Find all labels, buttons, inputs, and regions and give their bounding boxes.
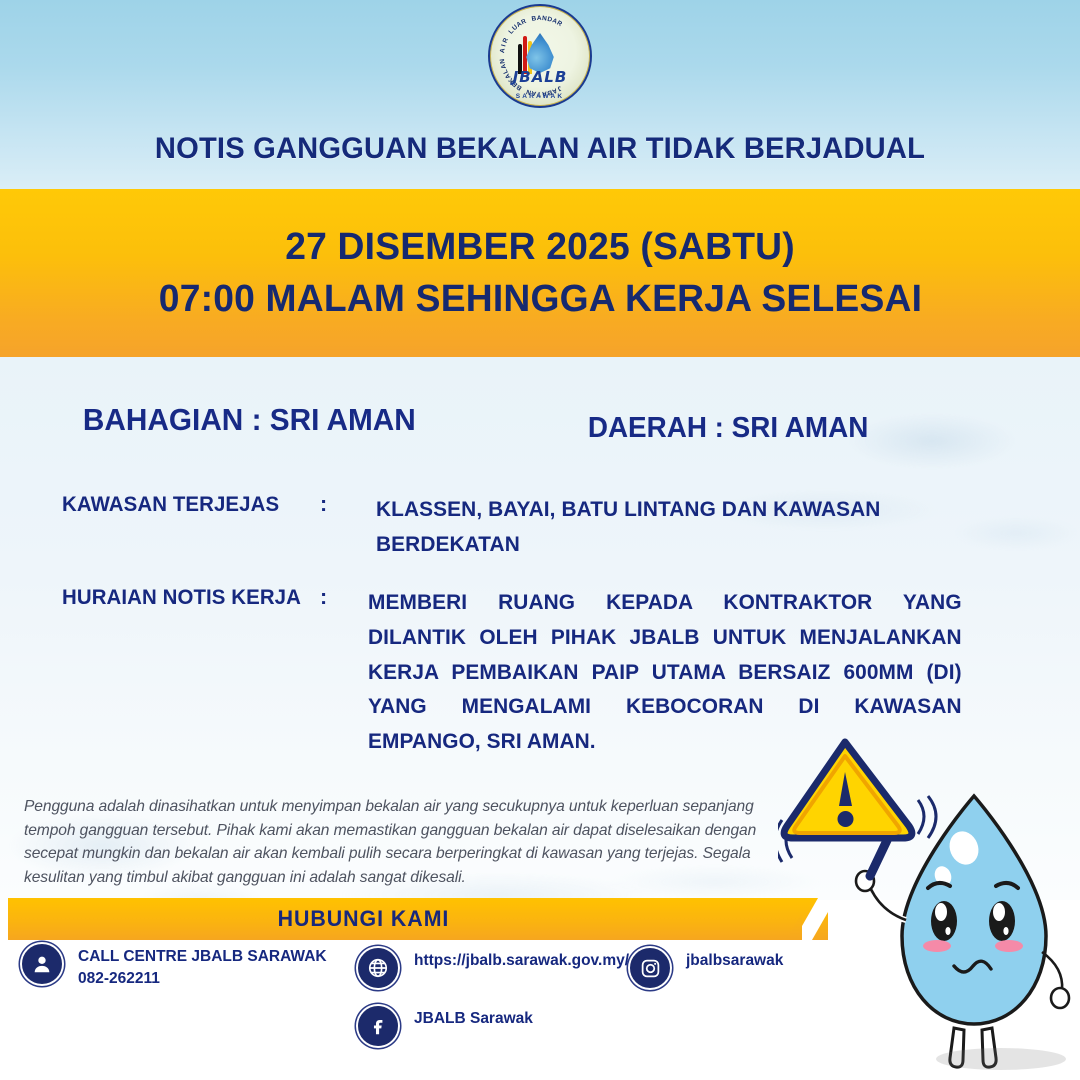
person-icon: [22, 944, 62, 984]
division-label: BAHAGIAN : SRI AMAN: [83, 402, 416, 438]
notice-poster: JABATAN BEKALAN AIR LUAR BANDAR JBALB SA…: [0, 0, 1080, 1080]
page-title: NOTIS GANGGUAN BEKALAN AIR TIDAK BERJADU…: [16, 132, 1064, 166]
contact-website[interactable]: https://jbalb.sarawak.gov.my/: [358, 948, 629, 988]
contacts-section: CALL CENTRE JBALB SARAWAK 082-262211 htt…: [0, 944, 1080, 1054]
contact-bar-wrapper: HUBUNGI KAMI: [0, 898, 1080, 940]
jbalb-logo: JABATAN BEKALAN AIR LUAR BANDAR JBALB SA…: [488, 4, 592, 108]
contact-bar-title: HUBUNGI KAMI: [277, 906, 449, 932]
warning-triangle-sign: [784, 742, 912, 838]
call-centre-line-1: CALL CENTRE JBALB SARAWAK: [78, 946, 327, 968]
advisory-paragraph: Pengguna adalah dinasihatkan untuk menyi…: [24, 795, 784, 890]
facebook-icon: [358, 1006, 398, 1046]
contact-call-centre[interactable]: CALL CENTRE JBALB SARAWAK 082-262211: [22, 944, 327, 991]
location-row: BAHAGIAN : SRI AMAN DAERAH : SRI AMAN: [0, 402, 1080, 450]
facebook-text: JBALB Sarawak: [414, 1006, 533, 1030]
logo-brand-text: JBALB: [490, 68, 590, 86]
logo-state-text: SARAWAK: [490, 93, 590, 100]
date-line-2: 07:00 MALAM SEHINGGA KERJA SELESAI: [158, 273, 921, 325]
affected-area-value: KLASSEN, BAYAI, BATU LINTANG DAN KAWASAN…: [376, 492, 968, 562]
district-label: DAERAH : SRI AMAN: [588, 412, 868, 445]
instagram-icon: [630, 948, 670, 988]
date-line-1: 27 DISEMBER 2025 (SABTU): [285, 221, 795, 273]
bar-stripe-2: [812, 898, 828, 940]
contact-bar: HUBUNGI KAMI: [8, 898, 818, 940]
affected-area-colon: :: [320, 492, 376, 517]
globe-icon: [358, 948, 398, 988]
work-description-label: HURAIAN NOTIS KERJA: [62, 585, 307, 610]
logo-circle: JABATAN BEKALAN AIR LUAR BANDAR JBALB SA…: [488, 4, 592, 108]
call-centre-line-2: 082-262211: [78, 968, 327, 990]
contact-instagram[interactable]: jbalbsarawak: [630, 948, 783, 988]
date-banner: 27 DISEMBER 2025 (SABTU) 07:00 MALAM SEH…: [0, 189, 1080, 357]
affected-area-label: KAWASAN TERJEJAS: [62, 492, 307, 517]
work-description-colon: :: [320, 585, 368, 610]
instagram-text: jbalbsarawak: [686, 948, 783, 972]
website-text: https://jbalb.sarawak.gov.my/: [414, 948, 629, 972]
contact-facebook[interactable]: JBALB Sarawak: [358, 1006, 533, 1046]
affected-area-field: KAWASAN TERJEJAS : KLASSEN, BAYAI, BATU …: [62, 492, 1022, 562]
call-centre-text: CALL CENTRE JBALB SARAWAK 082-262211: [78, 944, 327, 991]
